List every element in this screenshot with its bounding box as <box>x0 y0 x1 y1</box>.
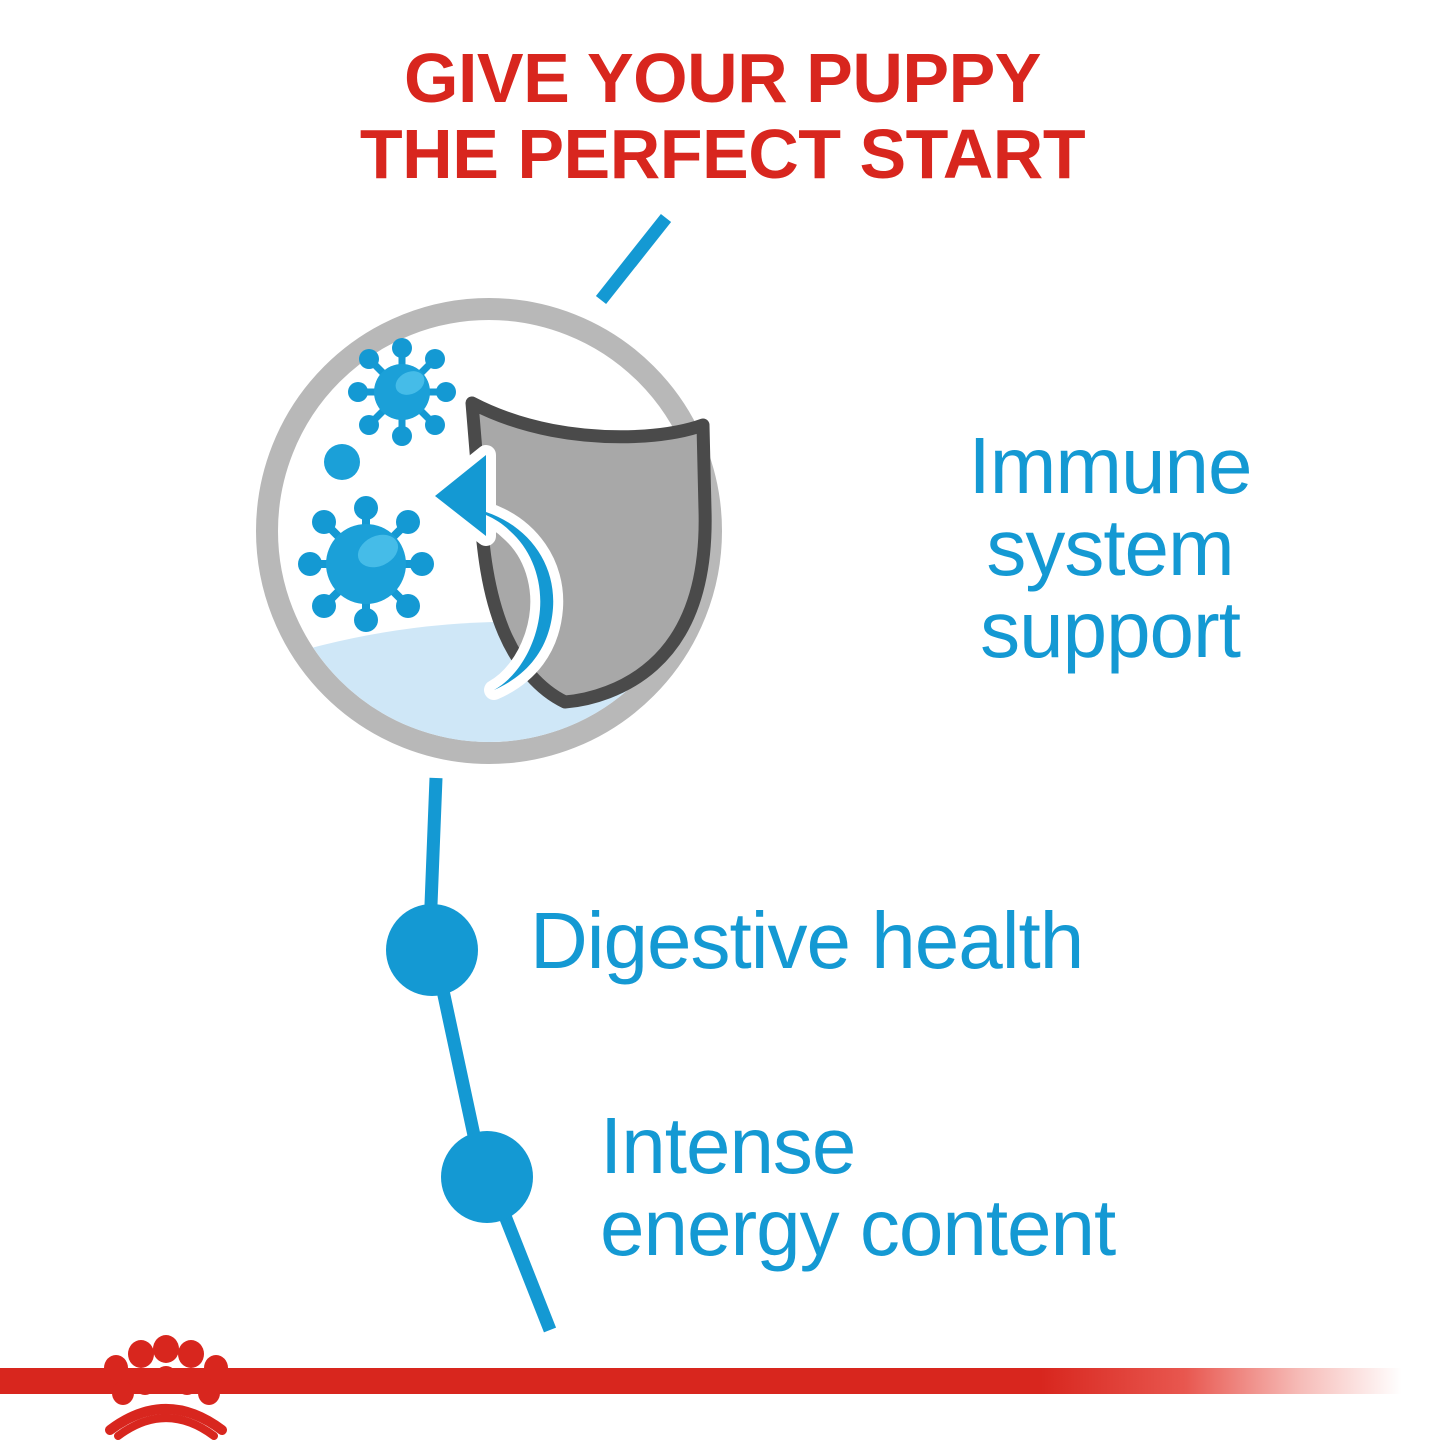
benefit-label-digestive-health: Digestive health <box>530 900 1230 982</box>
virus-small-icon <box>348 338 456 446</box>
connector-node-energy <box>441 1131 533 1223</box>
benefit-label-line: system <box>810 507 1410 589</box>
connector-line <box>430 778 550 1330</box>
royal-canin-crown-logo <box>90 1330 240 1445</box>
benefit-label-line: support <box>810 589 1410 671</box>
benefit-label-intense-energy-content: Intense energy content <box>600 1105 1360 1269</box>
footer <box>0 1330 1445 1445</box>
benefit-label-line: Intense <box>600 1105 1360 1187</box>
connector-node-digestive <box>386 904 478 996</box>
benefit-label-line: Immune <box>810 425 1410 507</box>
benefit-label-immune-system-support: Immune system support <box>810 425 1410 671</box>
benefit-label-line: Digestive health <box>530 900 1230 982</box>
virus-dot-icon <box>324 444 360 480</box>
immune-shield-virus-icon <box>260 309 740 775</box>
connector-top-stub <box>601 218 666 300</box>
promo-panel: GIVE YOUR PUPPY THE PERFECT START <box>0 0 1445 1445</box>
virus-large-icon <box>298 496 434 632</box>
benefit-label-line: energy content <box>600 1187 1360 1269</box>
